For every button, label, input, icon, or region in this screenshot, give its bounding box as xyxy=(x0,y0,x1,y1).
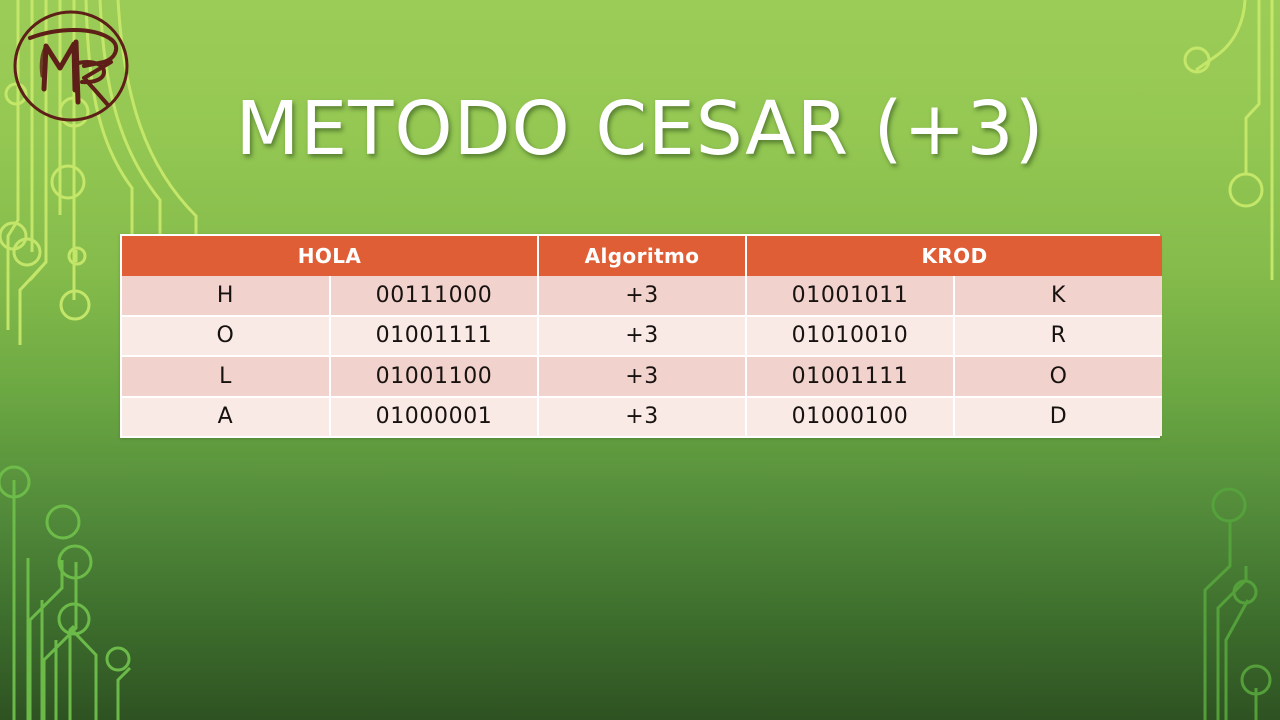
cell-cipher-letter: D xyxy=(954,397,1162,437)
cell-plain-binary: 00111000 xyxy=(330,276,538,316)
cell-algorithm: +3 xyxy=(538,276,746,316)
column-header-krod: KROD xyxy=(746,236,1162,276)
column-header-hola: HOLA xyxy=(122,236,538,276)
cell-cipher-letter: O xyxy=(954,356,1162,397)
cesar-table: HOLA Algoritmo KROD H 00111000 +3 010010… xyxy=(122,236,1162,436)
slide-title: METODO CESAR (+3) xyxy=(0,92,1280,166)
table-row: H 00111000 +3 01001011 K xyxy=(122,276,1162,316)
cell-plain-binary: 01001111 xyxy=(330,316,538,357)
cesar-table-container: HOLA Algoritmo KROD H 00111000 +3 010010… xyxy=(120,234,1160,438)
cell-cipher-letter: R xyxy=(954,316,1162,357)
column-header-algoritmo: Algoritmo xyxy=(538,236,746,276)
cell-algorithm: +3 xyxy=(538,397,746,437)
table-row: A 01000001 +3 01000100 D xyxy=(122,397,1162,437)
cell-plain-letter: H xyxy=(122,276,330,316)
table-row: O 01001111 +3 01010010 R xyxy=(122,316,1162,357)
cell-cipher-binary: 01010010 xyxy=(746,316,954,357)
cell-plain-letter: O xyxy=(122,316,330,357)
cell-cipher-binary: 01001011 xyxy=(746,276,954,316)
cell-cipher-letter: K xyxy=(954,276,1162,316)
cell-plain-binary: 01001100 xyxy=(330,356,538,397)
cell-cipher-binary: 01000100 xyxy=(746,397,954,437)
slide-canvas: METODO CESAR (+3) HOLA Algoritmo KROD H … xyxy=(0,0,1280,720)
cell-plain-letter: A xyxy=(122,397,330,437)
table-header: HOLA Algoritmo KROD xyxy=(122,236,1162,276)
table-row: L 01001100 +3 01001111 O xyxy=(122,356,1162,397)
cell-algorithm: +3 xyxy=(538,356,746,397)
cell-cipher-binary: 01001111 xyxy=(746,356,954,397)
table-body: H 00111000 +3 01001011 K O 01001111 +3 0… xyxy=(122,276,1162,436)
cell-plain-letter: L xyxy=(122,356,330,397)
table-header-row: HOLA Algoritmo KROD xyxy=(122,236,1162,276)
cell-algorithm: +3 xyxy=(538,316,746,357)
cell-plain-binary: 01000001 xyxy=(330,397,538,437)
